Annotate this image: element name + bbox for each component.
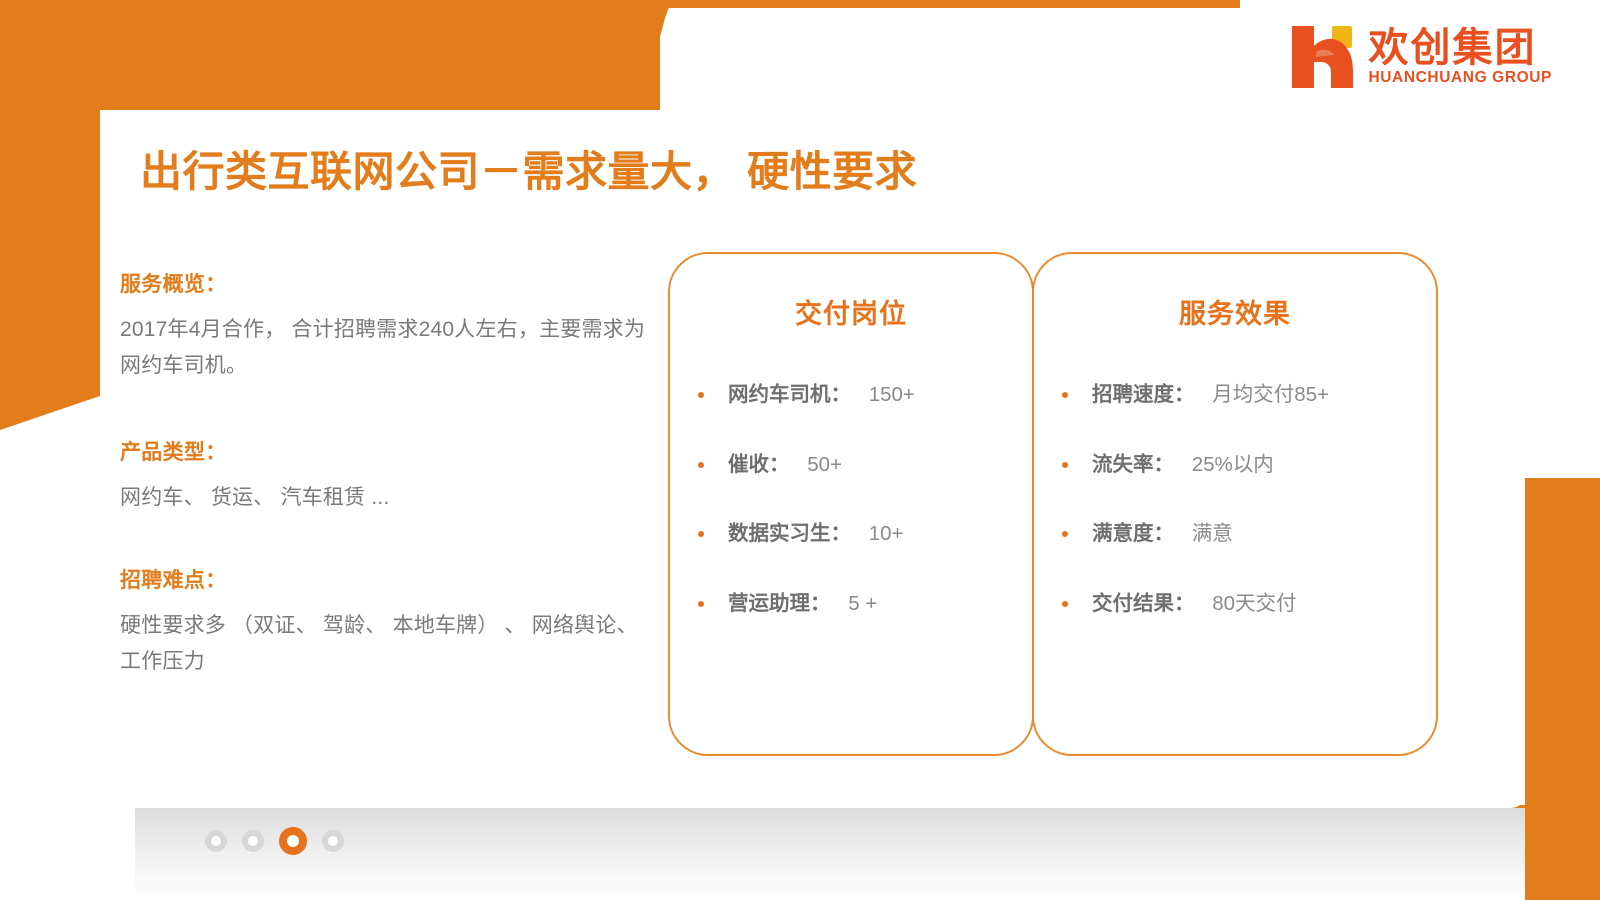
info-block-product-type: 产品类型： 网约车、 货运、 汽车租赁 ... <box>120 436 650 516</box>
bullet-dot-icon <box>698 462 704 468</box>
item-value: 80天交付 <box>1212 592 1296 615</box>
pagination <box>205 827 344 855</box>
panel-title-positions: 交付岗位 <box>670 292 1032 331</box>
presentation-slide: 欢创集团 HUANCHUANG GROUP 出行类互联网公司－需求量大， 硬性要… <box>0 0 1600 900</box>
list-item: 交付结果： 80天交付 <box>1054 592 1436 617</box>
info-heading-overview: 服务概览： <box>120 268 650 298</box>
pagination-dot-3[interactable] <box>279 827 307 855</box>
pagination-dot-4[interactable] <box>322 830 344 852</box>
huanchuang-h-mark-icon <box>1290 24 1354 90</box>
panel-service-results: 服务效果 招聘速度： 月均交付85+ 流失率： 25%以内 满意度： 满意 交付… <box>1032 252 1438 756</box>
item-key: 数据实习生： <box>728 522 851 545</box>
logo-name-cn: 欢创集团 <box>1368 27 1536 69</box>
bullet-dot-icon <box>698 531 704 537</box>
orange-shape-bottom-right-fill <box>1525 478 1600 900</box>
info-heading-difficulty: 招聘难点： <box>120 564 650 594</box>
list-item: 网约车司机： 150+ <box>690 383 1032 408</box>
bullet-dot-icon <box>698 601 704 607</box>
list-item: 流失率： 25%以内 <box>1054 453 1436 478</box>
info-body-product-type: 网约车、 货运、 汽车租赁 ... <box>120 480 650 516</box>
info-block-difficulty: 招聘难点： 硬性要求多 （双证、 驾龄、 本地车牌） 、 网络舆论、 工作压力 <box>120 564 650 680</box>
list-item: 满意度： 满意 <box>1054 522 1436 547</box>
company-logo: 欢创集团 HUANCHUANG GROUP <box>1290 24 1552 90</box>
info-column: 服务概览： 2017年4月合作， 合计招聘需求240人左右，主要需求为网约车司机… <box>120 268 650 681</box>
logo-wordmark: 欢创集团 HUANCHUANG GROUP <box>1368 27 1552 88</box>
item-key: 满意度： <box>1092 522 1174 545</box>
panel-list-positions: 网约车司机： 150+ 催收： 50+ 数据实习生： 10+ 营运助理： 5 + <box>670 383 1032 616</box>
bullet-dot-icon <box>1062 531 1068 537</box>
page-title: 出行类互联网公司－需求量大， 硬性要求 <box>140 138 917 199</box>
item-key: 招聘速度： <box>1092 383 1195 406</box>
info-block-overview: 服务概览： 2017年4月合作， 合计招聘需求240人左右，主要需求为网约车司机… <box>120 268 650 384</box>
bullet-dot-icon <box>698 392 704 398</box>
panel-title-results: 服务效果 <box>1034 292 1436 331</box>
item-key: 营运助理： <box>728 592 831 615</box>
item-value: 25%以内 <box>1192 453 1274 476</box>
bullet-dot-icon <box>1062 392 1068 398</box>
item-value: 150+ <box>869 383 915 406</box>
item-value: 月均交付85+ <box>1212 383 1329 406</box>
list-item: 招聘速度： 月均交付85+ <box>1054 383 1436 408</box>
item-value: 50+ <box>807 453 842 476</box>
info-body-overview: 2017年4月合作， 合计招聘需求240人左右，主要需求为网约车司机。 <box>120 312 650 384</box>
info-heading-product-type: 产品类型： <box>120 436 650 466</box>
logo-name-en: HUANCHUANG GROUP <box>1368 69 1552 88</box>
list-item: 催收： 50+ <box>690 453 1032 478</box>
item-key: 流失率： <box>1092 453 1174 476</box>
item-key: 交付结果： <box>1092 592 1195 615</box>
list-item: 营运助理： 5 + <box>690 592 1032 617</box>
panel-list-results: 招聘速度： 月均交付85+ 流失率： 25%以内 满意度： 满意 交付结果： 8… <box>1034 383 1436 616</box>
info-body-difficulty: 硬性要求多 （双证、 驾龄、 本地车牌） 、 网络舆论、 工作压力 <box>120 608 650 680</box>
orange-shape-left-tail <box>0 300 100 430</box>
item-value: 10+ <box>869 522 904 545</box>
panel-delivered-positions: 交付岗位 网约车司机： 150+ 催收： 50+ 数据实习生： 10+ 营运助理… <box>668 252 1034 756</box>
pagination-dot-2[interactable] <box>242 830 264 852</box>
item-value: 满意 <box>1192 522 1233 545</box>
list-item: 数据实习生： 10+ <box>690 522 1032 547</box>
pagination-dot-1[interactable] <box>205 830 227 852</box>
item-key: 网约车司机： <box>728 383 851 406</box>
item-value: 5 + <box>848 592 877 615</box>
bullet-dot-icon <box>1062 601 1068 607</box>
item-key: 催收： <box>728 453 790 476</box>
bullet-dot-icon <box>1062 462 1068 468</box>
